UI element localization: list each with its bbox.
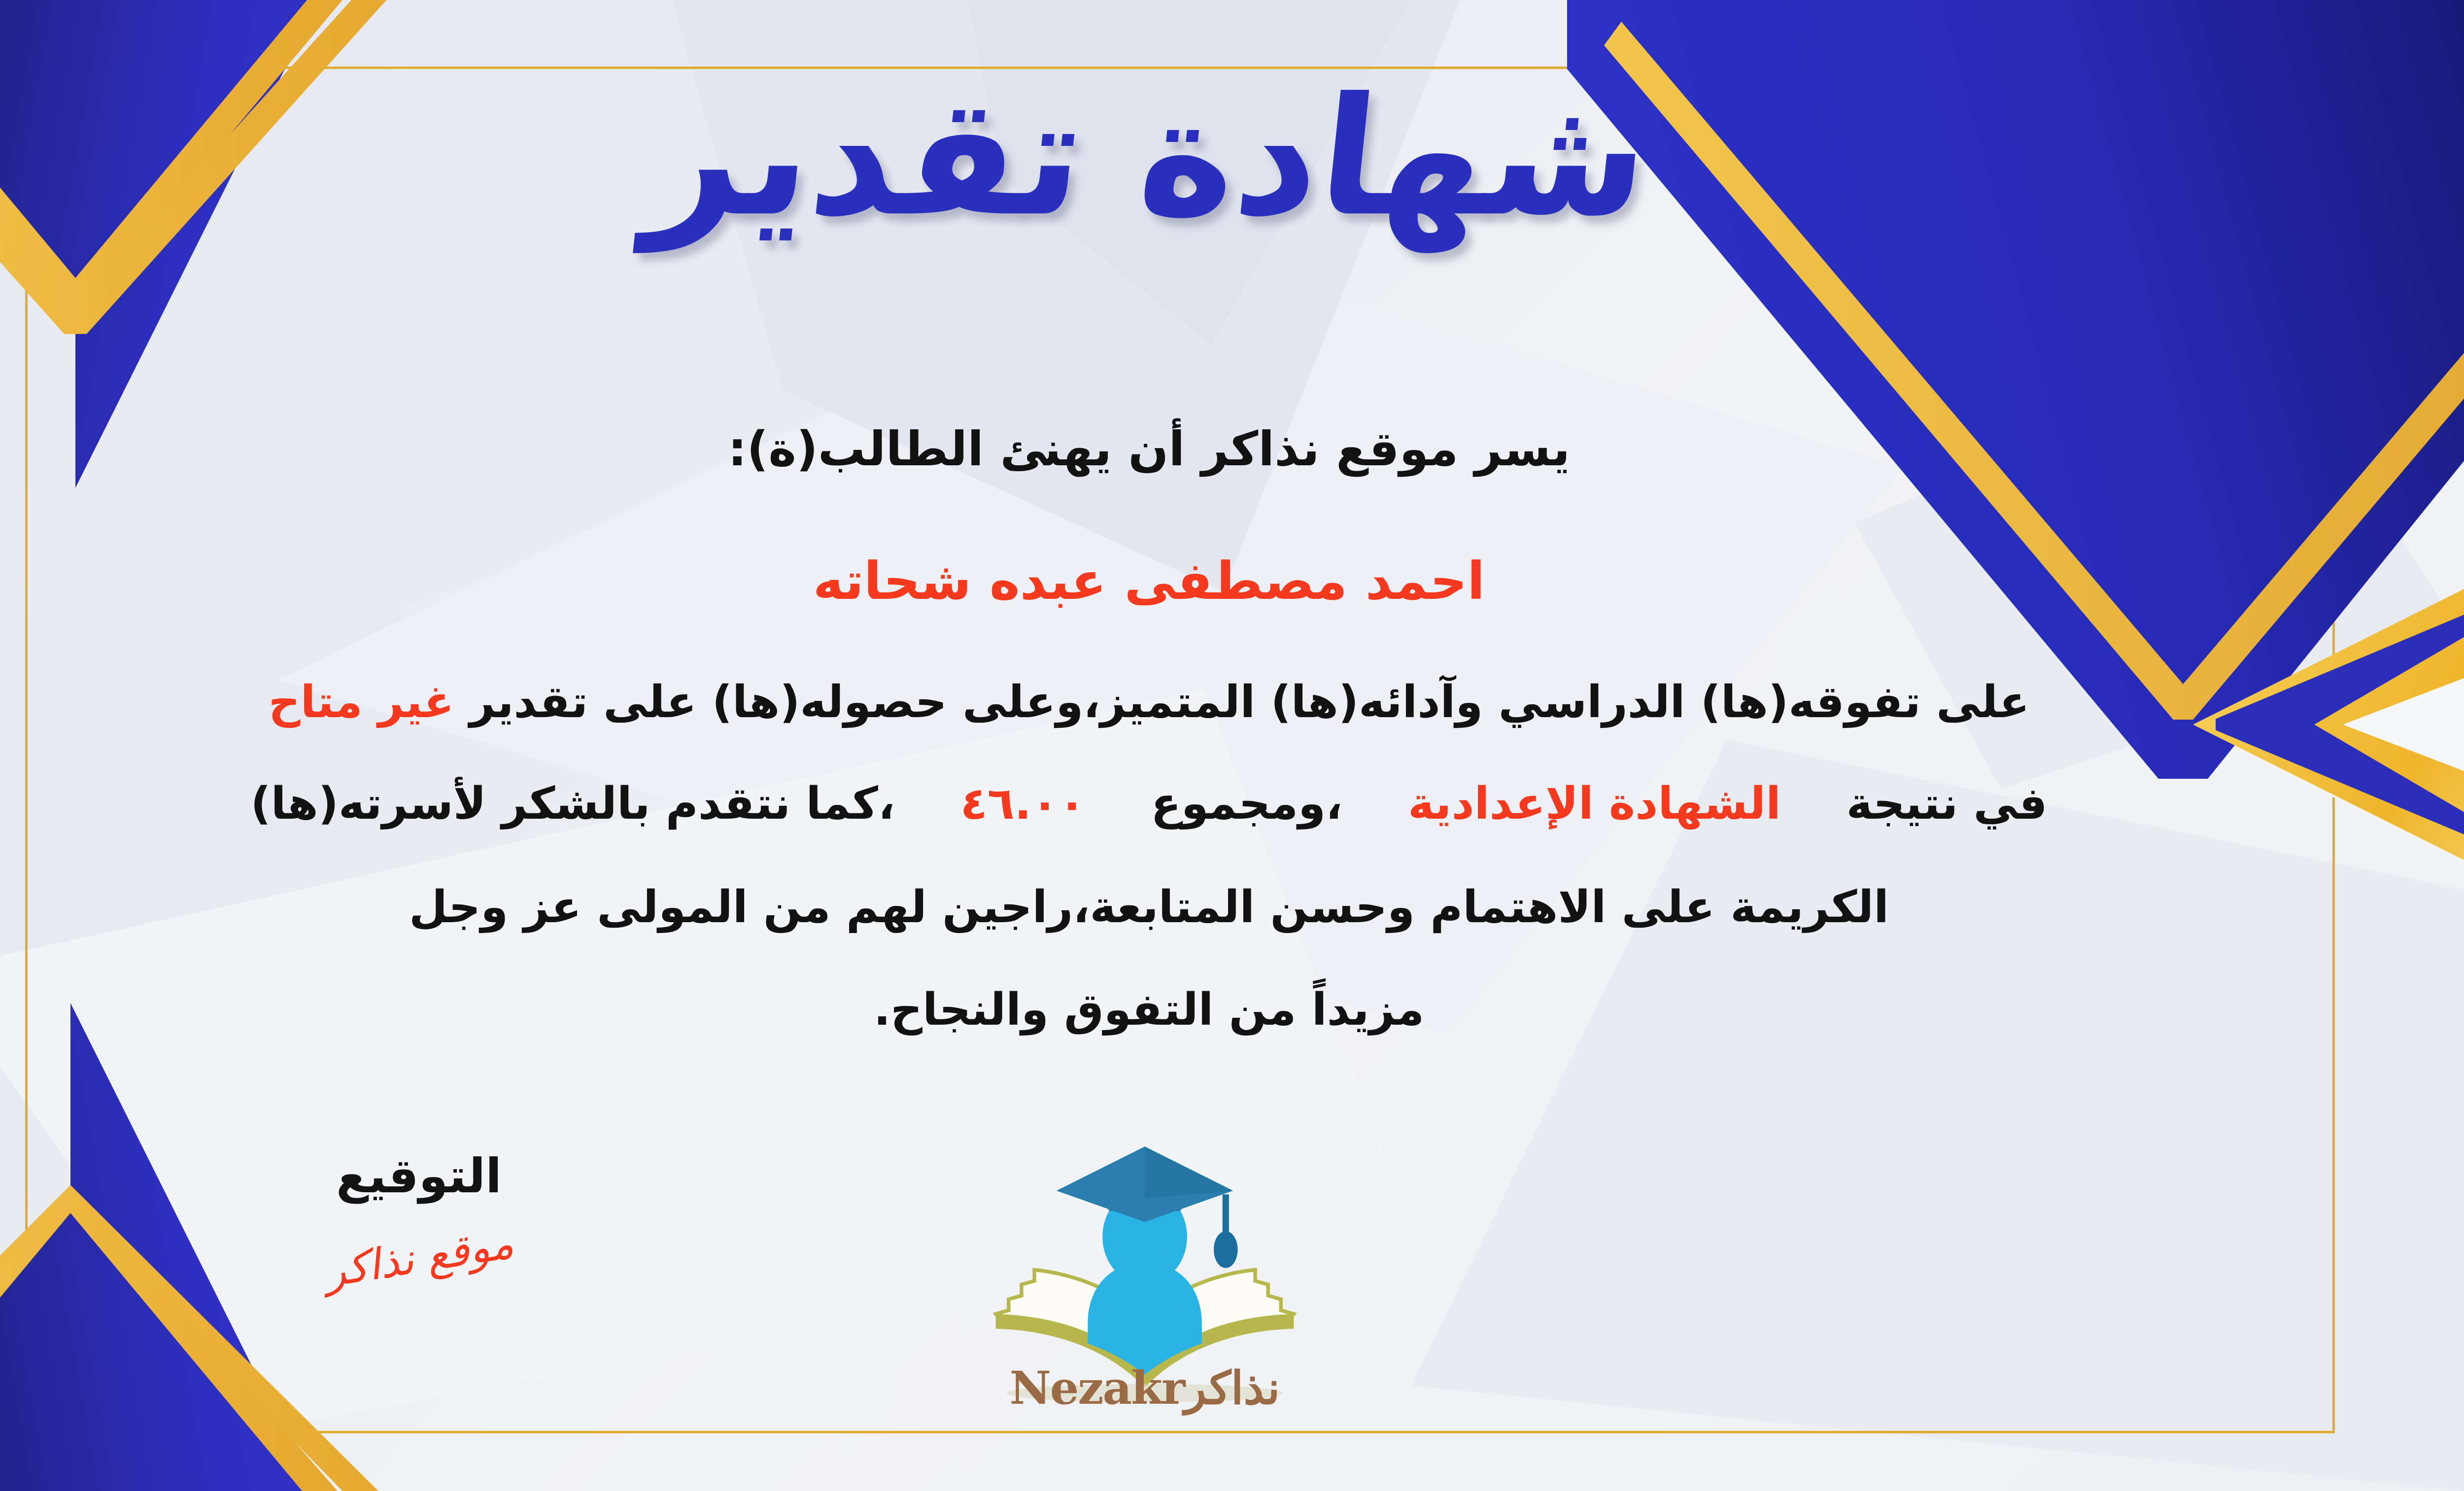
site-logo: Nezakrنذاكر [958,1134,1332,1410]
student-name: احمد مصطفى عبده شحاته [0,551,2316,611]
achievement-text: على تفوقه(ها) الدراسي وآدائه(ها) المتميز… [470,676,2030,728]
grade-value: غير متاح [269,676,454,728]
total-score: ٤٦.٠٠ [960,778,1086,830]
exam-name: الشهادة الإعدادية [1408,778,1781,830]
result-line: في نتيجة الشهادة الإعدادية ،ومجموع ٤٦.٠٠… [0,778,2316,830]
total-label: ،ومجموع [1151,778,1342,830]
thanks-suffix: ،كما نتقدم بالشكر لأسرته(ها) [250,778,895,830]
closing-line: مزيداً من التفوق والنجاح. [0,984,2316,1036]
logo-wordmark: Nezakrنذاكر [958,1361,1332,1415]
signature-block: التوقيع موقع نذاكر [261,1148,577,1283]
achievement-line: على تفوقه(ها) الدراسي وآدائه(ها) المتميز… [0,676,2316,728]
signature-label: التوقيع [261,1148,577,1204]
greeting-line: يسر موقع نذاكر أن يهنئ الطالب(ة): [0,421,2316,477]
certificate-title: شهادة تقدير [0,64,2464,251]
signature-mark: موقع نذاكر [321,1218,517,1297]
certificate-page: شهادة تقدير يسر موقع نذاكر أن يهنئ الطال… [0,0,2464,1491]
family-thanks-line: الكريمة على الاهتمام وحسن المتابعة،راجين… [0,881,2316,933]
logo-latin: Nezakr [1010,1361,1185,1415]
result-prefix: في نتيجة [1846,778,2047,830]
logo-arabic: نذاكر [1184,1361,1280,1415]
